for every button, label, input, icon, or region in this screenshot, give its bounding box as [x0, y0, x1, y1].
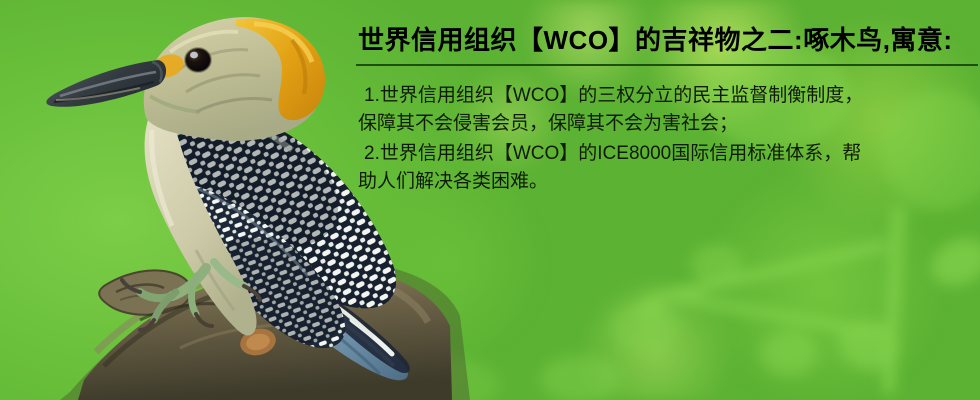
text-panel: 世界信用组织【WCO】的吉祥物之二:啄木鸟,寓意: 1.世界信用组织【WCO】的…	[352, 22, 980, 198]
list-item: 1.世界信用组织【WCO】的三权分立的民主监督制衡制度， 保障其不会侵害会员，保…	[352, 82, 980, 138]
foliage-leaf	[760, 330, 818, 376]
list-item: 2.世界信用组织【WCO】的ICE8000国际信用标准体系，帮 助人们解决各类困…	[352, 140, 980, 196]
page-title: 世界信用组织【WCO】的吉祥物之二:啄木鸟,寓意:	[352, 22, 980, 58]
foliage-leaf	[690, 244, 742, 284]
list-item-line-1: 2.世界信用组织【WCO】的ICE8000国际信用标准体系，帮	[364, 143, 861, 164]
title-divider	[356, 64, 978, 66]
foliage-leaf	[924, 229, 980, 294]
wco-mascot-banner: 世界信用组织【WCO】的吉祥物之二:啄木鸟,寓意: 1.世界信用组织【WCO】的…	[0, 0, 980, 400]
foliage-stem-vertical	[883, 205, 904, 395]
foliage-leaf	[833, 313, 906, 377]
foliage-leaf	[540, 355, 620, 400]
foliage-stem-lower	[661, 290, 889, 339]
list-item-line-2: 助人们解决各类困难。	[370, 168, 980, 196]
foliage-leaf	[610, 300, 680, 352]
list-item-line-2: 保障其不会侵害会员，保障其不会为害社会；	[370, 110, 980, 138]
list-item-line-1: 1.世界信用组织【WCO】的三权分立的民主监督制衡制度，	[364, 85, 863, 106]
foliage-bud	[636, 300, 664, 326]
woodpecker-head	[144, 17, 325, 141]
mascot-meaning-list: 1.世界信用组织【WCO】的三权分立的民主监督制衡制度， 保障其不会侵害会员，保…	[352, 82, 980, 196]
foliage-stem-upper	[642, 240, 888, 306]
